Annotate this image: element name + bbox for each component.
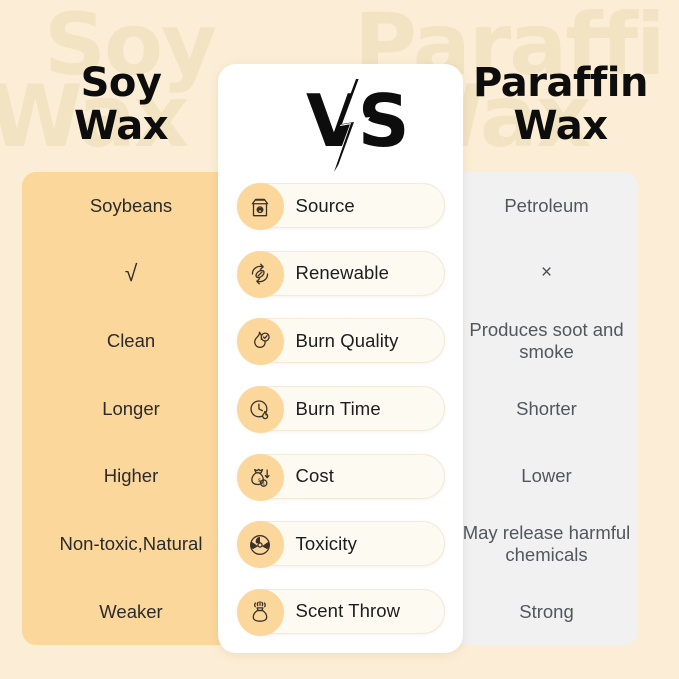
- pill-slot-burn-quality: Burn Quality: [218, 307, 463, 375]
- infographic-canvas: Soy Wax Paraffi Wax Soy Wax Paraffin Wax…: [0, 0, 679, 679]
- criteria-label-scent-throw: Scent Throw: [296, 600, 401, 622]
- right-value-source: Petroleum: [455, 172, 638, 240]
- right-value-scent-throw: Strong: [455, 577, 638, 645]
- right-value-renewable: ×: [455, 240, 638, 308]
- left-value-burn-quality: Clean: [22, 307, 240, 375]
- pill-slot-renewable: Renewable: [218, 240, 463, 308]
- criteria-label-cost: Cost: [296, 465, 334, 487]
- criteria-pill-scent-throw[interactable]: Scent Throw: [237, 589, 445, 634]
- svg-text:$: $: [262, 481, 265, 486]
- criteria-label-burn-time: Burn Time: [296, 398, 381, 420]
- pill-slot-burn-time: Burn Time: [218, 375, 463, 443]
- pill-slot-scent-throw: Scent Throw: [218, 577, 463, 645]
- right-value-burn-time: Shorter: [455, 375, 638, 443]
- criteria-label-toxicity: Toxicity: [296, 533, 357, 555]
- vs-lightning-logo: VS: [218, 78, 463, 172]
- pill-slot-cost: $ $ Cost: [218, 442, 463, 510]
- left-value-source: Soybeans: [22, 172, 240, 240]
- left-value-burn-time: Longer: [22, 375, 240, 443]
- left-value-toxicity: Non-toxic,Natural: [22, 510, 240, 578]
- flame-check-icon: [237, 318, 284, 365]
- criteria-pill-burn-time[interactable]: Burn Time: [237, 386, 445, 431]
- money-bag-arrow-icon: $ $: [237, 454, 284, 501]
- right-title-line2: Wax: [442, 105, 679, 148]
- right-value-cost: Lower: [455, 442, 638, 510]
- sack-of-soybeans-icon: [237, 183, 284, 230]
- pill-slot-toxicity: Toxicity: [218, 510, 463, 578]
- criteria-pill-burn-quality[interactable]: Burn Quality: [237, 318, 445, 363]
- criteria-pill-source[interactable]: Source: [237, 183, 445, 228]
- criteria-pill-list: Source Renewable: [218, 172, 463, 645]
- biohazard-icon: [237, 521, 284, 568]
- right-value-toxicity: May release harmful chemicals: [455, 510, 638, 578]
- scent-sachet-icon: [237, 589, 284, 636]
- right-title-line1: Paraffin: [442, 62, 679, 105]
- criteria-pill-renewable[interactable]: Renewable: [237, 251, 445, 296]
- right-value-burn-quality: Produces soot and smoke: [455, 307, 638, 375]
- left-value-scent-throw: Weaker: [22, 577, 240, 645]
- clock-flame-icon: [237, 386, 284, 433]
- left-value-cost: Higher: [22, 442, 240, 510]
- soy-wax-values-panel: Soybeans √ Clean Longer Higher Non-toxic…: [22, 172, 240, 645]
- right-column-title: Paraffin Wax: [442, 62, 679, 148]
- left-value-renewable: √: [22, 240, 240, 308]
- recycle-leaf-icon: [237, 251, 284, 298]
- left-title-line1: Soy: [8, 62, 234, 105]
- paraffin-wax-values-panel: Petroleum × Produces soot and smoke Shor…: [455, 172, 638, 645]
- left-title-line2: Wax: [8, 105, 234, 148]
- criteria-label-renewable: Renewable: [296, 262, 389, 284]
- center-criteria-card: VS: [218, 64, 463, 653]
- criteria-pill-cost[interactable]: $ $ Cost: [237, 454, 445, 499]
- left-column-title: Soy Wax: [8, 62, 234, 148]
- criteria-pill-toxicity[interactable]: Toxicity: [237, 521, 445, 566]
- criteria-label-burn-quality: Burn Quality: [296, 330, 399, 352]
- criteria-label-source: Source: [296, 195, 355, 217]
- pill-slot-source: Source: [218, 172, 463, 240]
